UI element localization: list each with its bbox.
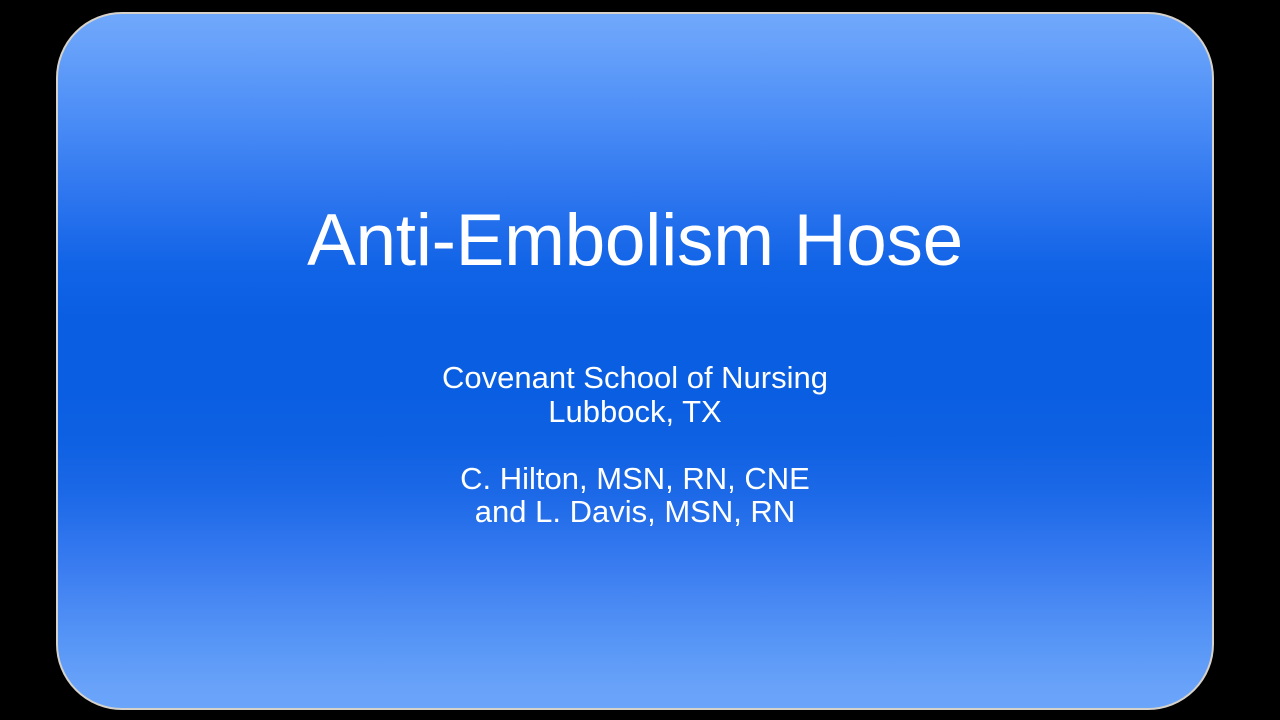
subtitle-blank-line <box>58 428 1212 462</box>
slide-title: Anti-Embolism Hose <box>58 202 1212 280</box>
subtitle-line-author-2: and L. Davis, MSN, RN <box>58 495 1212 529</box>
slide-canvas: Anti-Embolism Hose Covenant School of Nu… <box>0 0 1280 720</box>
subtitle-line-organization: Covenant School of Nursing <box>58 361 1212 395</box>
slide-subtitle: Covenant School of Nursing Lubbock, TX C… <box>58 361 1212 529</box>
slide-content-panel: Anti-Embolism Hose Covenant School of Nu… <box>56 12 1214 710</box>
subtitle-line-author-1: C. Hilton, MSN, RN, CNE <box>58 462 1212 496</box>
subtitle-line-location: Lubbock, TX <box>58 395 1212 429</box>
